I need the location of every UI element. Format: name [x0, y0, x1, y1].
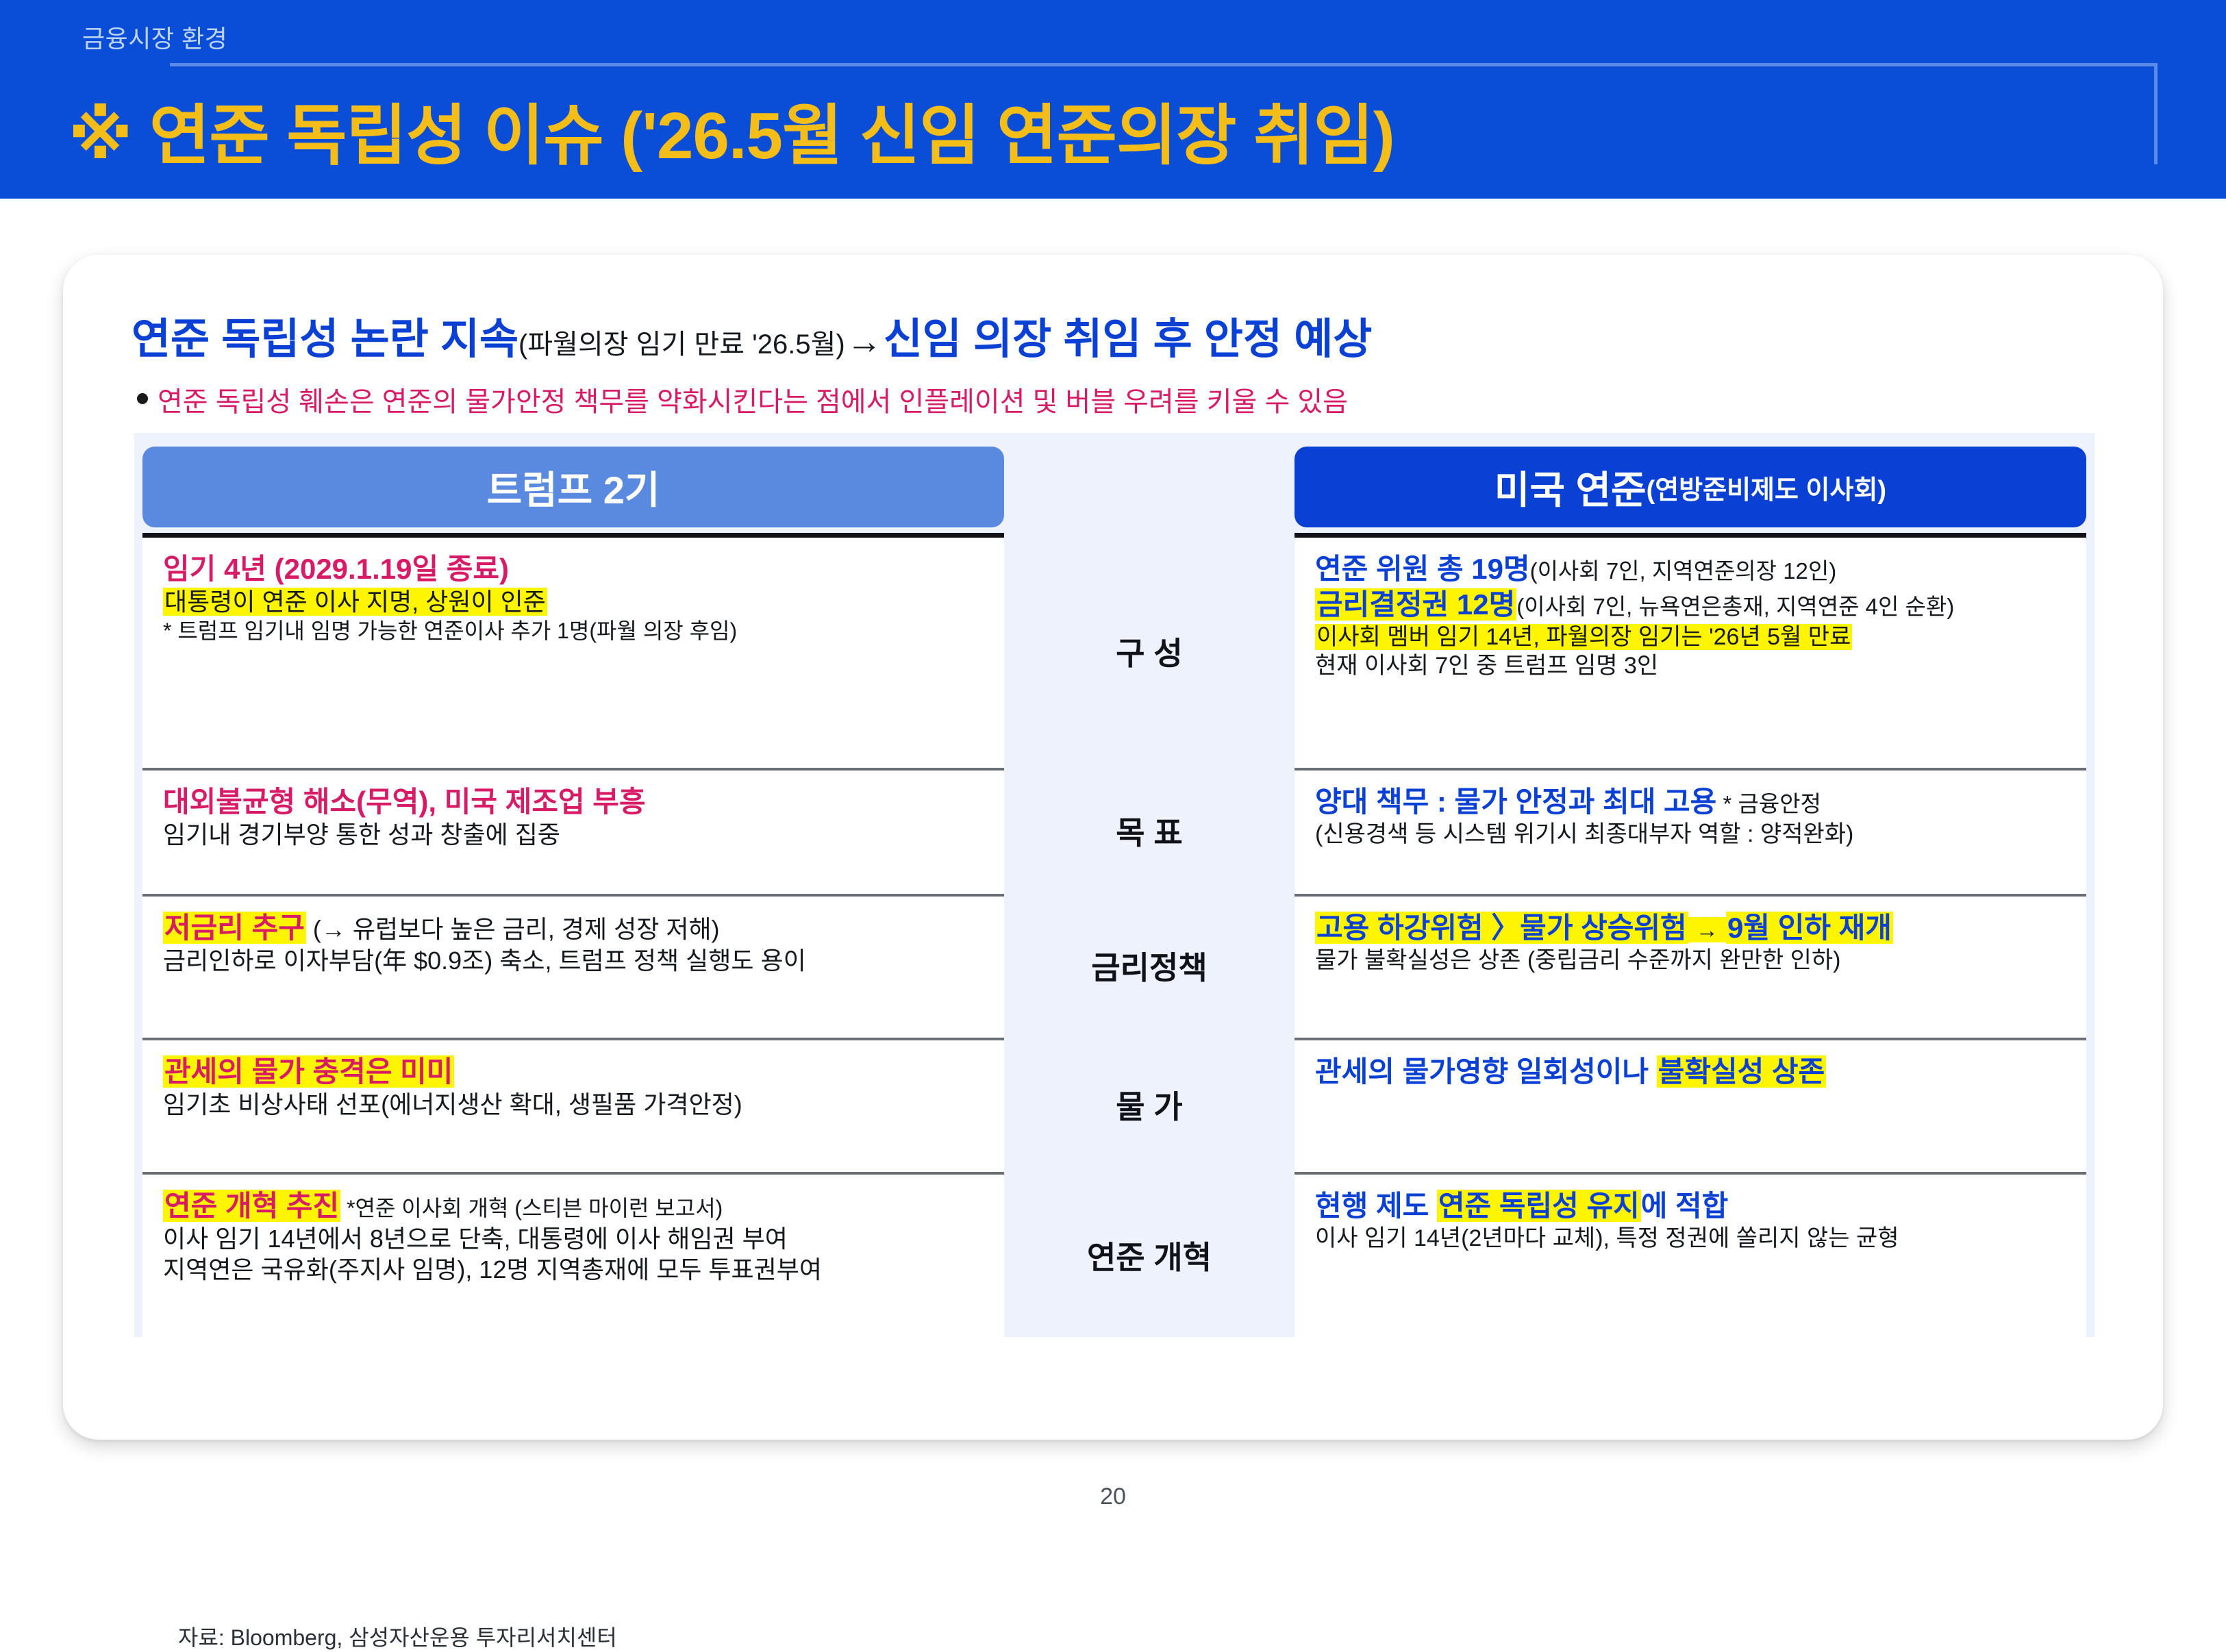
highlighted-text: 대통령이 연준 이사 지명, 상원이 인준: [163, 588, 547, 616]
row-label: 금리정책: [1012, 943, 1286, 988]
cell-text: 관세의 물가영향 일회성이나: [1315, 1055, 1657, 1088]
table-cell-left: 연준 개혁 추진 *연준 이사회 개혁 (스티븐 마이런 보고서)이사 임기 1…: [142, 1175, 1004, 1342]
slide-header-band: 금융시장 환경 ※ 연준 독립성 이슈 ('26.5월 신임 연준의장 취임): [0, 0, 2226, 199]
cell-text: 현재 이사회 7인 중 트럼프 임명 3인: [1315, 653, 1658, 679]
cell-text: (이사회 7인, 뉴욕연은총재, 지역연준 4인 순환): [1516, 594, 1954, 619]
page-number: 20: [0, 1484, 2226, 1510]
highlighted-text: →: [1688, 917, 1726, 942]
cell-text: * 트럼프 임기내 임명 가능한 연준이사 추가 1명(파월 의장 후임): [163, 618, 737, 643]
cell-text: (→ 유럽보다 높은 금리, 경제 성장 저해): [306, 915, 720, 943]
header-rule-vertical: [2154, 63, 2158, 164]
source-note: 자료: Bloomberg, 삼성자산운용 투자리서치센터: [178, 1620, 617, 1652]
table-body-left: 임기 4년 (2029.1.19일 종료)대통령이 연준 이사 지명, 상원이 …: [142, 533, 1004, 1337]
cell-line: 이사회 멤버 임기 14년, 파월의장 임기는 '26년 5월 만료: [1315, 623, 2068, 651]
cell-line: 양대 책무 : 물가 안정과 최대 고용 * 금융안정: [1315, 784, 2068, 820]
bullet-dot-icon: [137, 393, 148, 404]
table-body-right: 연준 위원 총 19명(이사회 7인, 지역연준의장 12인)금리결정권 12명…: [1295, 533, 2086, 1337]
cell-line: 고용 하강위험 〉물가 상승위험 → 9월 인하 재개: [1315, 910, 2068, 946]
cell-text: 이사 임기 14년에서 8년으로 단축, 대통령에 이사 해임권 부여: [163, 1225, 788, 1253]
lead-parenthetical: (파월의장 임기 만료 '26.5월): [518, 329, 845, 360]
key-bullet: 연준 독립성 훼손은 연준의 물가안정 책무를 약화시킨다는 점에서 인플레이션…: [137, 379, 1348, 419]
cell-text: 금리인하로 이자부담(年 $0.9조) 축소, 트럼프 정책 실행도 용이: [163, 947, 806, 975]
highlighted-text: 관세의 물가 충격은 미미: [163, 1055, 454, 1088]
cell-line: 금리결정권 12명(이사회 7인, 뉴욕연은총재, 지역연준 4인 순환): [1315, 587, 2068, 623]
row-label: 물 가: [1012, 1082, 1286, 1127]
key-bullet-text: 연준 독립성 훼손은 연준의 물가안정 책무를 약화시킨다는 점에서 인플레이션…: [158, 379, 1348, 419]
highlighted-text: 연준 독립성 유지: [1437, 1190, 1641, 1222]
cell-line: 연준 위원 총 19명(이사회 7인, 지역연준의장 12인): [1315, 551, 2068, 587]
row-label: 구 성: [1012, 629, 1286, 674]
cell-text: 연준 위원 총 19명: [1315, 553, 1530, 585]
cell-line: 관세의 물가 충격은 미미: [163, 1054, 986, 1090]
cell-text: (이사회 7인, 지역연준의장 12인): [1530, 558, 1837, 584]
cell-line: 현재 이사회 7인 중 트럼프 임명 3인: [1315, 651, 2068, 680]
arrow-right-icon: →: [845, 322, 884, 362]
highlighted-text: 저금리 추구: [163, 912, 306, 944]
cell-line: 지역연은 국유화(주지사 임명), 12명 지역총재에 모두 투표권부여: [163, 1255, 986, 1286]
comparison-table: 트럼프 2기 미국 연준(연방준비제도 이사회) 임기 4년 (2029.1.1…: [134, 433, 2094, 1337]
cell-line: 임기내 경기부양 통한 성과 창출에 집중: [163, 820, 986, 851]
cell-line: (신용경색 등 시스템 위기시 최종대부자 역할 : 양적완화): [1315, 820, 2068, 849]
cell-text: * 금융안정: [1716, 791, 1821, 816]
table-row-label-column: 구 성목 표금리정책물 가연준 개혁: [1012, 533, 1286, 1337]
header-rule-horizontal: [170, 63, 2158, 66]
table-cell-right: 관세의 물가영향 일회성이나 불확실성 상존: [1295, 1040, 2086, 1175]
cell-text: 현행 제도: [1315, 1190, 1437, 1222]
cell-text: 이사 임기 14년(2년마다 교체), 특정 정권에 쏠리지 않는 균형: [1315, 1225, 1899, 1251]
cell-line: 금리인하로 이자부담(年 $0.9조) 축소, 트럼프 정책 실행도 용이: [163, 946, 986, 977]
cell-text: 에 적합: [1641, 1190, 1729, 1222]
cell-text: 임기내 경기부양 통한 성과 창출에 집중: [163, 821, 560, 849]
cell-line: 임기 4년 (2029.1.19일 종료): [163, 551, 986, 587]
cell-line: 대외불균형 해소(무역), 미국 제조업 부흥: [163, 784, 986, 820]
cell-text: 임기 4년 (2029.1.19일 종료): [163, 553, 509, 585]
highlighted-text: 9월 인하 재개: [1726, 912, 1893, 944]
table-cell-right: 양대 책무 : 물가 안정과 최대 고용 * 금융안정(신용경색 등 시스템 위…: [1295, 771, 2086, 897]
cell-line: 관세의 물가영향 일회성이나 불확실성 상존: [1315, 1054, 2068, 1090]
column-header-trump-label: 트럼프 2기: [487, 460, 660, 515]
cell-text: 물가 불확실성은 상존 (중립금리 수준까지 완만한 인하): [1315, 947, 1840, 973]
table-cell-left: 관세의 물가 충격은 미미임기초 비상사태 선포(에너지생산 확대, 생필품 가…: [142, 1040, 1004, 1175]
highlighted-text: 연준 개혁 추진: [163, 1190, 340, 1222]
highlighted-text: 고용 하강위험 〉물가 상승위험: [1315, 912, 1688, 944]
lead-part-two: 신임 의장 취임 후 안정 예상: [884, 316, 1373, 363]
cell-line: 이사 임기 14년(2년마다 교체), 특정 정권에 쏠리지 않는 균형: [1315, 1224, 2068, 1253]
cell-text: 양대 책무 : 물가 안정과 최대 고용: [1315, 786, 1716, 818]
table-cell-right: 고용 하강위험 〉물가 상승위험 → 9월 인하 재개물가 불확실성은 상존 (…: [1295, 897, 2086, 1040]
row-label: 목 표: [1012, 808, 1286, 853]
row-label: 연준 개혁: [1012, 1233, 1286, 1278]
cell-line: * 트럼프 임기내 임명 가능한 연준이사 추가 1명(파월 의장 후임): [163, 618, 986, 645]
cell-text: *연준 이사회 개혁 (스티븐 마이런 보고서): [340, 1196, 723, 1221]
cell-line: 현행 제도 연준 독립성 유지에 적합: [1315, 1188, 2068, 1224]
highlighted-text: 금리결정권 12명: [1315, 588, 1516, 621]
highlighted-text: 불확실성 상존: [1657, 1055, 1827, 1088]
cell-text: 지역연은 국유화(주지사 임명), 12명 지역총재에 모두 투표권부여: [163, 1255, 822, 1284]
column-header-fed: 미국 연준(연방준비제도 이사회): [1295, 447, 2086, 527]
column-header-fed-label: 미국 연준: [1495, 460, 1647, 515]
cell-line: 이사 임기 14년에서 8년으로 단축, 대통령에 이사 해임권 부여: [163, 1224, 986, 1255]
content-card: 연준 독립성 논란 지속(파월의장 임기 만료 '26.5월)→신임 의장 취임…: [63, 255, 2163, 1440]
section-eyebrow-label: 금융시장 환경: [82, 19, 227, 55]
cell-line: 연준 개혁 추진 *연준 이사회 개혁 (스티븐 마이런 보고서): [163, 1188, 986, 1224]
table-cell-left: 저금리 추구 (→ 유럽보다 높은 금리, 경제 성장 저해)금리인하로 이자부…: [142, 897, 1004, 1040]
lead-part-one: 연준 독립성 논란 지속: [132, 316, 518, 363]
table-cell-right: 현행 제도 연준 독립성 유지에 적합이사 임기 14년(2년마다 교체), 특…: [1295, 1175, 2086, 1342]
table-cell-left: 대외불균형 해소(무역), 미국 제조업 부흥임기내 경기부양 통한 성과 창출…: [142, 771, 1004, 897]
cell-text: (신용경색 등 시스템 위기시 최종대부자 역할 : 양적완화): [1315, 821, 1853, 847]
column-header-fed-sublabel: (연방준비제도 이사회): [1647, 468, 1887, 506]
cell-line: 물가 불확실성은 상존 (중립금리 수준까지 완만한 인하): [1315, 946, 2068, 975]
column-header-trump: 트럼프 2기: [142, 447, 1004, 527]
cell-text: 대외불균형 해소(무역), 미국 제조업 부흥: [163, 786, 646, 818]
highlighted-text: 이사회 멤버 임기 14년, 파월의장 임기는 '26년 5월 만료: [1315, 624, 1852, 650]
table-cell-left: 임기 4년 (2029.1.19일 종료)대통령이 연준 이사 지명, 상원이 …: [142, 538, 1004, 771]
cell-line: 임기초 비상사태 선포(에너지생산 확대, 생필품 가격안정): [163, 1090, 986, 1121]
cell-text: 임기초 비상사태 선포(에너지생산 확대, 생필품 가격안정): [163, 1090, 742, 1118]
page-title: ※ 연준 독립성 이슈 ('26.5월 신임 연준의장 취임): [68, 82, 1395, 177]
cell-line: 저금리 추구 (→ 유럽보다 높은 금리, 경제 성장 저해): [163, 910, 986, 946]
table-cell-right: 연준 위원 총 19명(이사회 7인, 지역연준의장 12인)금리결정권 12명…: [1295, 538, 2086, 771]
cell-line: 대통령이 연준 이사 지명, 상원이 인준: [163, 587, 986, 618]
lead-statement: 연준 독립성 논란 지속(파월의장 임기 만료 '26.5월)→신임 의장 취임…: [132, 304, 1372, 366]
